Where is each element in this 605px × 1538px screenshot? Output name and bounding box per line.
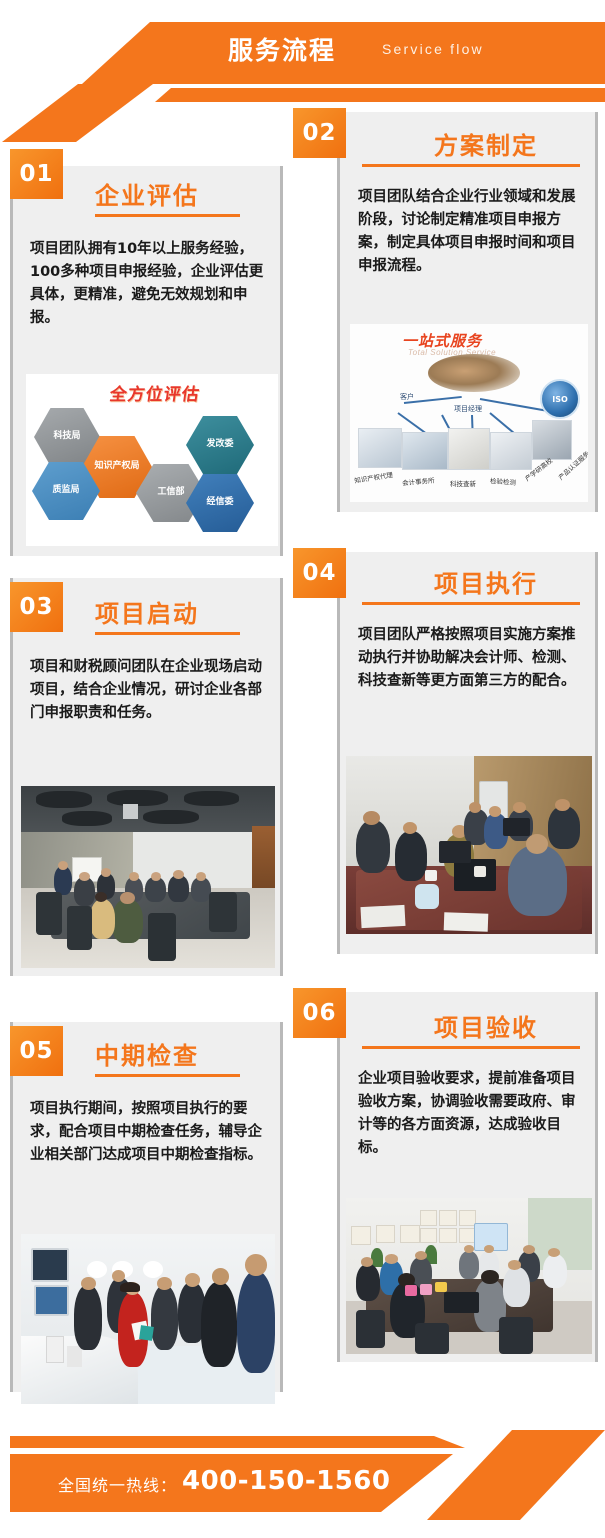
step-card-04: 项目执行 项目团队严格按照项目实施方案推动执行并协助解决会计师、检测、科技查新等…	[337, 552, 595, 954]
step-card-04-body: 项目团队严格按照项目实施方案推动执行并协助解决会计师、检测、科技查新等更方面第三…	[358, 624, 580, 693]
step-card-02-body: 项目团队结合企业行业领域和发展阶段，讨论制定精准项目申报方案，制定具体项目申报时…	[358, 186, 580, 278]
step-card-04-title-rule	[362, 602, 580, 605]
step-badge-05: 05	[10, 1026, 63, 1076]
hexagon-diagram-title: 全方位评估	[108, 380, 202, 405]
step-badge-03: 03	[10, 582, 63, 632]
step-card-06-title-rule	[362, 1046, 580, 1049]
step-card-02-illustration: 一站式服务 Total Solution Service 客户 项目经理 ISO…	[350, 324, 588, 502]
service-tile-university	[532, 420, 572, 460]
service-tile-testing	[490, 432, 532, 470]
service-label-ip-agency: 知识产权代理	[353, 469, 393, 485]
step-card-01: 企业评估 项目团队拥有10年以上服务经验，100多种项目申报经验，企业评估更具体…	[10, 166, 280, 556]
step-card-03-photo	[21, 786, 275, 968]
page-subtitle: Service flow	[382, 41, 484, 57]
service-tile-search	[448, 428, 490, 470]
service-label-inspection: 检验检测	[490, 475, 517, 487]
step-card-06: 项目验收 企业项目验收要求，提前准备项目验收方案，协调验收需要政府、审计等的各方…	[337, 992, 595, 1362]
step-card-02: 方案制定 项目团队结合企业行业领域和发展阶段，讨论制定精准项目申报方案，制定具体…	[337, 112, 595, 512]
hotline-label: 全国统一热线：	[58, 1472, 177, 1496]
service-tile-ip	[358, 428, 402, 468]
page-title: 服务流程	[228, 31, 336, 67]
hex-node-fgw: 发改委	[186, 416, 254, 474]
step-card-03-title-rule	[95, 632, 240, 635]
step-card-05: 中期检查 项目执行期间，按照项目执行的要求，配合项目中期检查任务，辅导企业相关部…	[10, 1022, 280, 1392]
step-card-06-photo	[346, 1198, 592, 1354]
step-card-03-title: 项目启动	[95, 594, 199, 636]
step-card-02-title: 方案制定	[434, 126, 538, 168]
service-node-customer: 客户	[400, 392, 414, 402]
service-node-project-manager: 项目经理	[454, 404, 482, 414]
step-badge-01: 01	[10, 149, 63, 199]
step-card-01-title-rule	[95, 214, 240, 217]
iso-certification-badge: ISO	[540, 379, 580, 419]
step-card-04-title: 项目执行	[434, 564, 538, 606]
step-card-03: 项目启动 项目和财税顾问团队在企业现场启动项目，结合企业情况，研讨企业各部门申报…	[10, 578, 280, 976]
step-card-01-illustration: 全方位评估 科技局 知识产权局 质监局 工信部 商务局 发改委 经信委	[26, 374, 278, 546]
step-card-03-body: 项目和财税顾问团队在企业现场启动项目，结合企业情况，研讨企业各部门申报职责和任务…	[30, 656, 266, 725]
page-footer: 全国统一热线： 400-150-1560	[0, 1390, 605, 1538]
step-card-01-title: 企业评估	[95, 176, 199, 218]
step-badge-02: 02	[293, 108, 346, 158]
step-card-04-photo	[346, 756, 592, 934]
step-badge-06: 06	[293, 988, 346, 1038]
flow-arrow-right	[480, 398, 549, 412]
step-card-05-photo	[21, 1234, 275, 1404]
step-card-05-title-rule	[95, 1074, 240, 1077]
step-card-06-body: 企业项目验收要求，提前准备项目验收方案，协调验收需要政府、审计等的各方面资源，达…	[358, 1068, 580, 1160]
step-card-02-title-rule	[362, 164, 580, 167]
service-team-photo-blob	[428, 354, 520, 392]
step-card-05-title: 中期检查	[95, 1036, 199, 1078]
step-badge-04: 04	[293, 548, 346, 598]
service-label-tech-search: 科技查新	[450, 478, 476, 488]
hotline-number[interactable]: 400-150-1560	[182, 1466, 391, 1496]
service-flow-infographic: 服务流程 Service flow 企业评估 项目团队拥有10年以上服务经验，1…	[0, 0, 605, 1538]
service-tile-accounting	[402, 432, 448, 470]
step-card-05-body: 项目执行期间，按照项目执行的要求，配合项目中期检查任务，辅导企业相关部门达成项目…	[30, 1098, 266, 1167]
service-label-accounting: 会计事务所	[402, 475, 435, 488]
step-card-01-body: 项目团队拥有10年以上服务经验，100多种项目申报经验，企业评估更具体，更精准，…	[30, 238, 266, 330]
step-card-06-title: 项目验收	[434, 1008, 538, 1050]
